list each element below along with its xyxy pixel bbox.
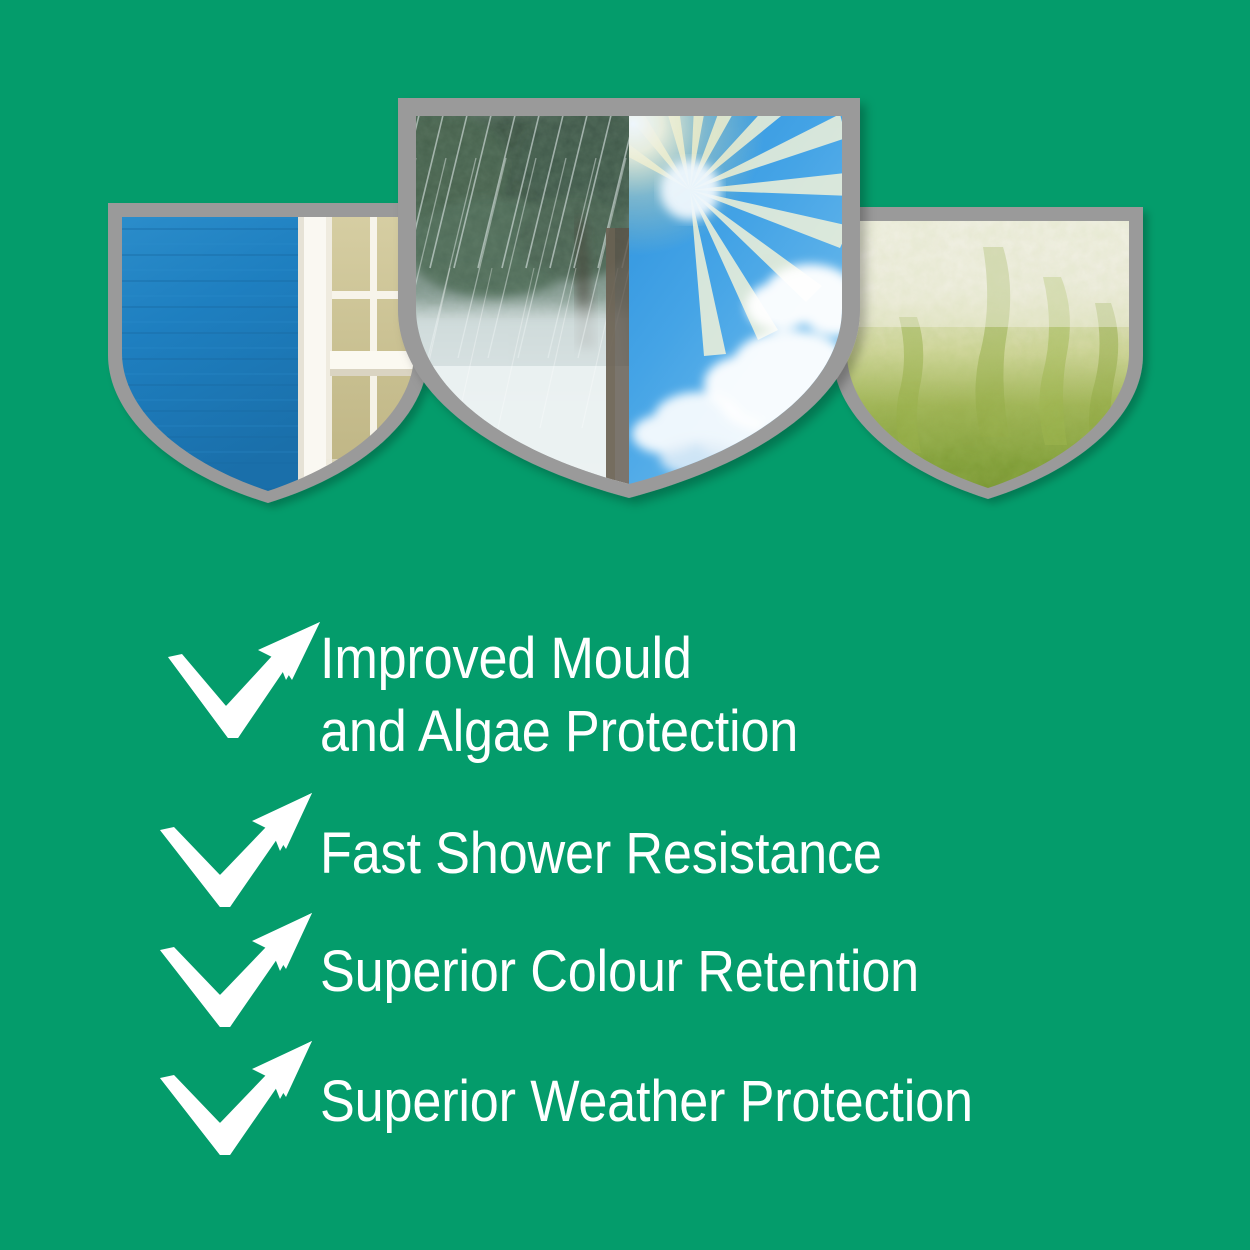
check-arrow-icon [160, 1023, 320, 1147]
feature-label: Improved Mould and Algae Protection [320, 610, 798, 768]
check-arrow-icon [160, 895, 320, 1019]
shield-image-rain-sun [358, 24, 872, 498]
feature-label: Superior Colour Retention [320, 895, 919, 1008]
feature-label: Superior Weather Protection [320, 1023, 973, 1138]
shield-image-blue-brick [108, 203, 428, 503]
shield-rain-and-sun [398, 98, 860, 498]
feature-label: Fast Shower Resistance [320, 775, 882, 890]
check-arrow-icon [160, 610, 320, 742]
shield-algae-wall [833, 207, 1143, 499]
shield-cluster [0, 0, 1250, 560]
shield-blue-brick-wall [108, 203, 428, 503]
feature-item-weather-protection: Superior Weather Protection [160, 1023, 1045, 1147]
shield-image-algae [833, 207, 1143, 499]
promo-graphic: Improved Mould and Algae Protection Fast… [0, 0, 1250, 1250]
check-arrow-icon [160, 775, 320, 899]
feature-item-mould-algae: Improved Mould and Algae Protection [160, 610, 851, 768]
feature-item-colour-retention: Superior Colour Retention [160, 895, 986, 1019]
feature-item-shower-resistance: Fast Shower Resistance [160, 775, 944, 899]
